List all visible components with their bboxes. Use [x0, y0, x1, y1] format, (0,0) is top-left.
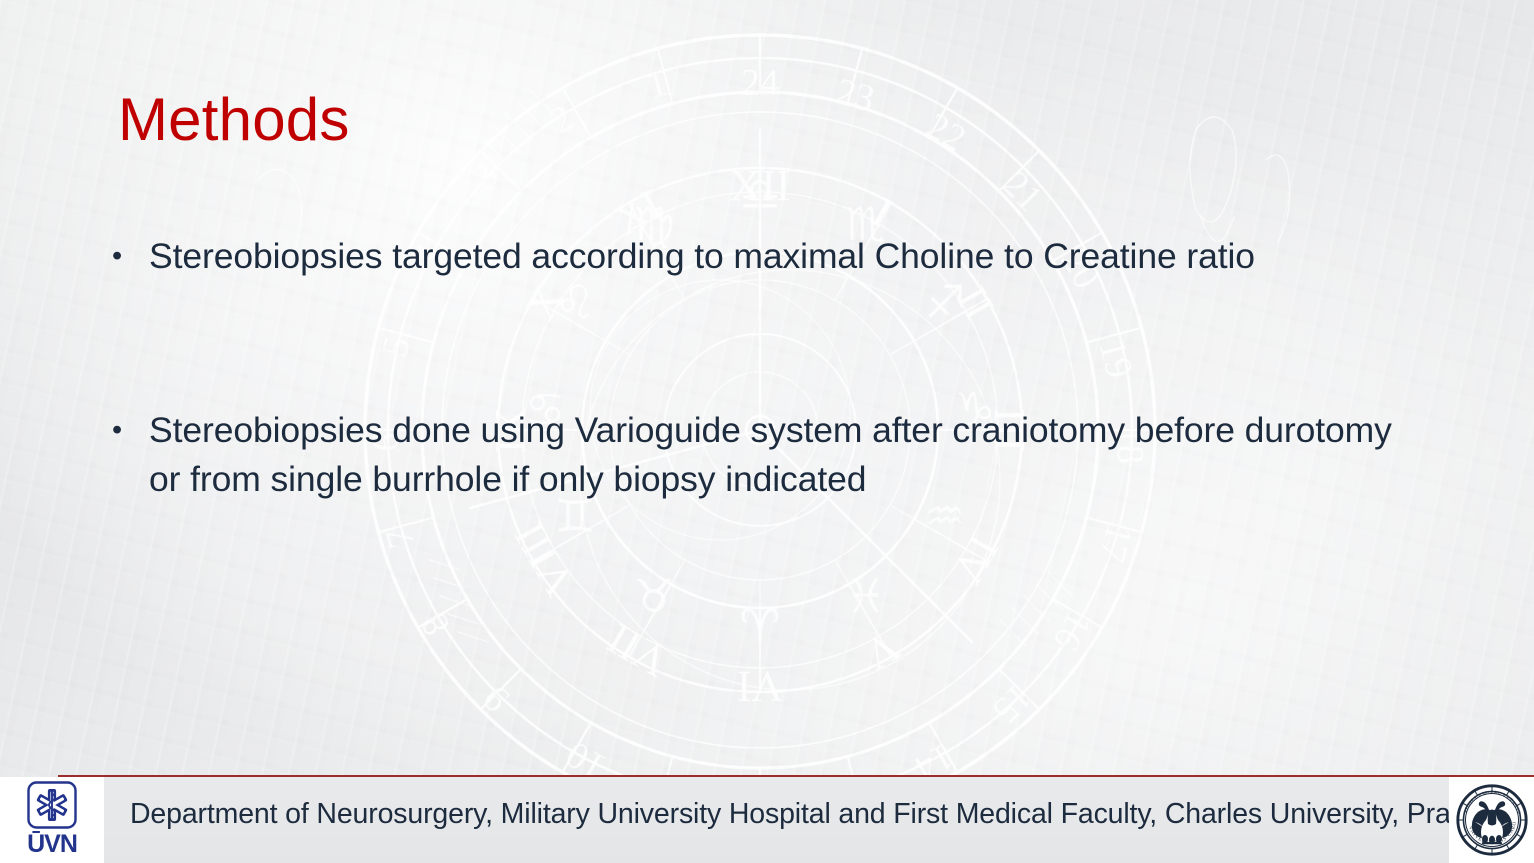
uvn-logo: ŪVN — [0, 777, 104, 863]
svg-text:♈: ♈ — [739, 599, 780, 653]
svg-text:VIII: VIII — [504, 514, 584, 604]
slide-body: • Stereobiopsies targeted according to m… — [112, 232, 1432, 505]
svg-text:22: 22 — [919, 105, 973, 160]
svg-text:3: 3 — [464, 155, 507, 198]
footer-affiliation-text: Department of Neurosurgery, Military Uni… — [130, 795, 1498, 833]
bullet-icon: • — [112, 406, 149, 455]
svg-text:♓: ♓ — [845, 569, 886, 623]
svg-text:9: 9 — [475, 677, 518, 720]
svg-text:7: 7 — [378, 523, 423, 552]
presentation-slide: XII I II III IV V VI VII VIII IX X XI 24… — [0, 0, 1534, 863]
svg-text:23: 23 — [831, 70, 879, 120]
svg-text:XII: XII — [729, 161, 790, 210]
list-item: • Stereobiopsies done using Varioguide s… — [112, 406, 1432, 505]
svg-text:VII: VII — [599, 614, 676, 687]
svg-text:♎: ♎ — [739, 167, 780, 221]
svg-text:8: 8 — [413, 605, 459, 642]
list-item: • Stereobiopsies targeted according to m… — [112, 232, 1432, 282]
svg-text:16: 16 — [1045, 604, 1100, 658]
bullet-icon: • — [112, 232, 149, 281]
svg-text:1: 1 — [642, 62, 671, 107]
star-of-life-icon — [26, 781, 78, 831]
page-title: Methods — [118, 88, 350, 151]
university-seal-icon: SIGILLVM·FACVLTATIS VNIVERSITATIS·CAROLI… — [1454, 782, 1530, 858]
svg-text:2: 2 — [543, 97, 580, 143]
uvn-logo-text: ŪVN — [27, 832, 77, 857]
footer-divider — [58, 775, 1534, 777]
svg-text:♉: ♉ — [633, 569, 674, 623]
svg-text:V: V — [856, 621, 908, 679]
list-item-text: Stereobiopsies targeted according to max… — [149, 232, 1432, 282]
svg-text:IV: IV — [943, 527, 1009, 592]
svg-text:21: 21 — [994, 163, 1051, 220]
svg-text:24: 24 — [741, 62, 779, 104]
svg-text:15: 15 — [984, 675, 1041, 732]
charles-university-seal: SIGILLVM·FACVLTATIS VNIVERSITATIS·CAROLI… — [1449, 777, 1534, 863]
svg-text:17: 17 — [1090, 519, 1140, 567]
list-item-text: Stereobiopsies done using Varioguide sys… — [149, 406, 1432, 505]
svg-text:I: I — [864, 188, 901, 238]
svg-text:VI: VI — [737, 662, 783, 711]
